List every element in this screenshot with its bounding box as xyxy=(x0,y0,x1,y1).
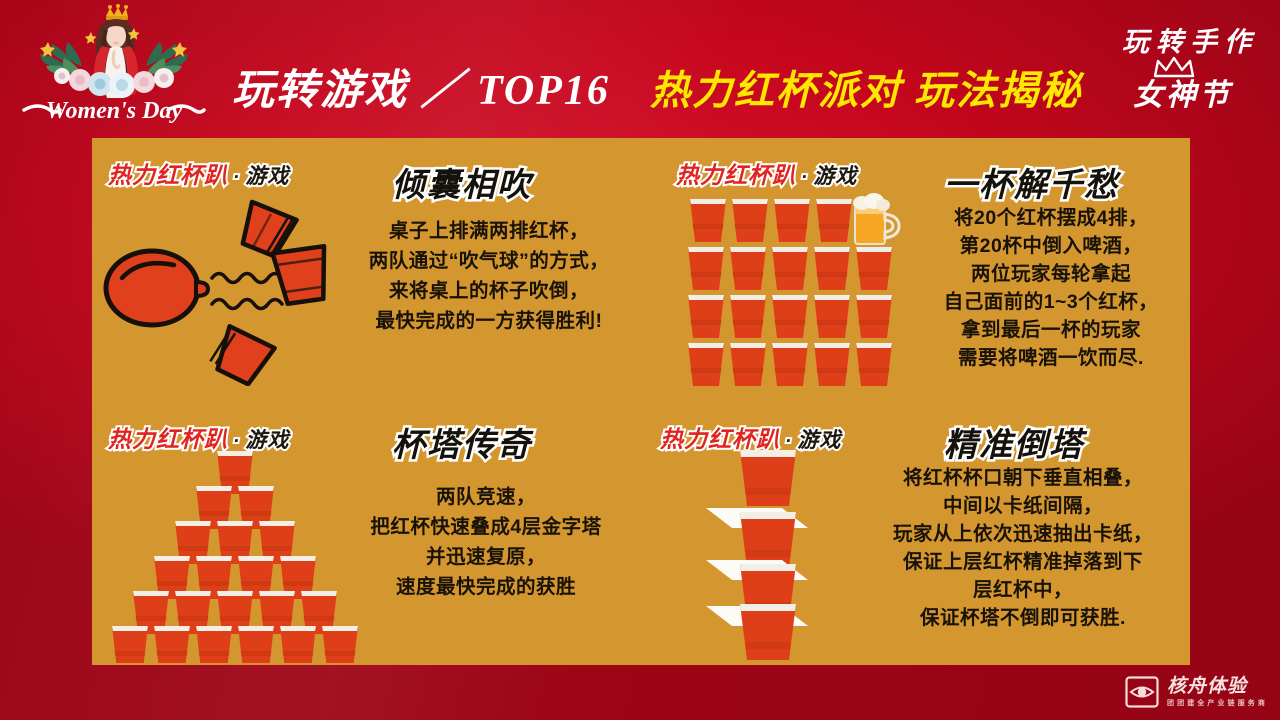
card-body-line: 需要将啤酒一饮而尽. xyxy=(912,344,1190,372)
card-body: 桌子上排满两排红杯， 两队通过“吹气球”的方式， 来将桌上的杯子吹倒， 最快完成… xyxy=(330,216,648,336)
card-tag-dark: 游戏 xyxy=(813,165,857,188)
slide-header: Women's Day 玩转游戏 ／ TOP16 热力红杯派对 玩法揭秘 玩转手… xyxy=(0,0,1280,138)
card-body-line: 第20杯中倒入啤酒， xyxy=(912,232,1190,260)
card-tag: 热力红杯趴·游戏 xyxy=(108,156,289,190)
cup-grid-with-beer-mug-illustration xyxy=(684,190,904,390)
card-body-line: 层红杯中， xyxy=(858,576,1188,604)
card-body-line: 两队通过“吹气球”的方式， xyxy=(330,246,648,276)
footer-brand-logo: 核舟体验 团团建全产业链服务商 xyxy=(1125,672,1268,712)
card-body-line: 并迅速复原， xyxy=(324,542,648,572)
card-tag: 热力红杯趴·游戏 xyxy=(676,156,857,190)
cup-pyramid-illustration xyxy=(110,448,360,663)
card-body-line: 两队竞速， xyxy=(324,482,648,512)
footer-brand-name: 核舟体验 xyxy=(1167,677,1268,696)
card-body-line: 保证上层红杯精准掉落到下 xyxy=(858,548,1188,576)
card-body-line: 将20个红杯摆成4排， xyxy=(912,204,1190,232)
brand-bottom-label: 女神节 xyxy=(1133,70,1232,114)
card-title: 精准倒塔 xyxy=(944,418,1084,466)
header-title-accent: 热力红杯派对 玩法揭秘 xyxy=(650,58,1082,116)
card-title: 杯塔传奇 xyxy=(392,418,532,466)
game-card-yibei-jieqianchou[interactable]: 热力红杯趴·游戏 xyxy=(652,138,1190,400)
balloon-blowing-cups-illustration xyxy=(100,186,350,386)
womens-day-logo-text: Women's Day xyxy=(46,98,183,124)
game-card-qingnang-xiangchui[interactable]: 热力红杯趴·游戏 xyxy=(92,138,652,400)
game-card-jingzhun-daota[interactable]: 热力红杯趴·游戏 xyxy=(652,400,1190,665)
card-body-line: 两位玩家每轮拿起 xyxy=(912,260,1190,288)
card-tag-dot: · xyxy=(228,167,245,188)
card-body-line: 桌子上排满两排红杯， xyxy=(330,216,648,246)
card-title: 一杯解千愁 xyxy=(944,158,1119,206)
card-tag-red: 热力红杯趴 xyxy=(108,162,228,188)
card-tag-dot: · xyxy=(796,167,813,188)
card-body: 将红杯杯口朝下垂直相叠， 中间以卡纸间隔， 玩家从上依次迅速抽出卡纸， 保证上层… xyxy=(858,464,1188,632)
eye-mark-icon xyxy=(1125,676,1159,708)
card-body-line: 最快完成的一方获得胜利! xyxy=(330,306,648,336)
card-body-line: 自己面前的1~3个红杯， xyxy=(912,288,1190,316)
content-panel: 热力红杯趴·游戏 xyxy=(92,138,1190,665)
footer-brand-subtitle: 团团建全产业链服务商 xyxy=(1167,700,1268,707)
card-title: 倾囊相吹 xyxy=(392,158,532,206)
footer-brand-text: 核舟体验 团团建全产业链服务商 xyxy=(1167,677,1268,707)
card-body-line: 中间以卡纸间隔， xyxy=(858,492,1188,520)
card-body-line: 来将桌上的杯子吹倒， xyxy=(330,276,648,306)
card-body-line: 玩家从上依次迅速抽出卡纸， xyxy=(858,520,1188,548)
card-body-line: 保证杯塔不倒即可获胜. xyxy=(858,604,1188,632)
card-body-line: 将红杯杯口朝下垂直相叠， xyxy=(858,464,1188,492)
card-body-line: 把红杯快速叠成4层金字塔 xyxy=(324,512,648,542)
brand-top-label: 玩转手作 xyxy=(1122,20,1258,59)
stacked-cups-with-cards-illustration xyxy=(692,446,842,661)
card-tag-dark: 游戏 xyxy=(245,165,289,188)
header-title-main: 玩转游戏 ／ TOP16 xyxy=(232,56,610,117)
slide-background: Women's Day 玩转游戏 ／ TOP16 热力红杯派对 玩法揭秘 玩转手… xyxy=(0,0,1280,720)
womens-day-logo: Women's Day xyxy=(18,2,210,130)
card-body-line: 拿到最后一杯的玩家 xyxy=(912,316,1190,344)
card-body: 两队竞速， 把红杯快速叠成4层金字塔 并迅速复原， 速度最快完成的获胜 xyxy=(324,482,648,602)
game-card-beita-chuanqi[interactable]: 热力红杯趴·游戏 xyxy=(92,400,652,665)
card-body: 将20个红杯摆成4排， 第20杯中倒入啤酒， 两位玩家每轮拿起 自己面前的1~3… xyxy=(912,204,1190,372)
card-tag-red: 热力红杯趴 xyxy=(676,162,796,188)
card-body-line: 速度最快完成的获胜 xyxy=(324,572,648,602)
